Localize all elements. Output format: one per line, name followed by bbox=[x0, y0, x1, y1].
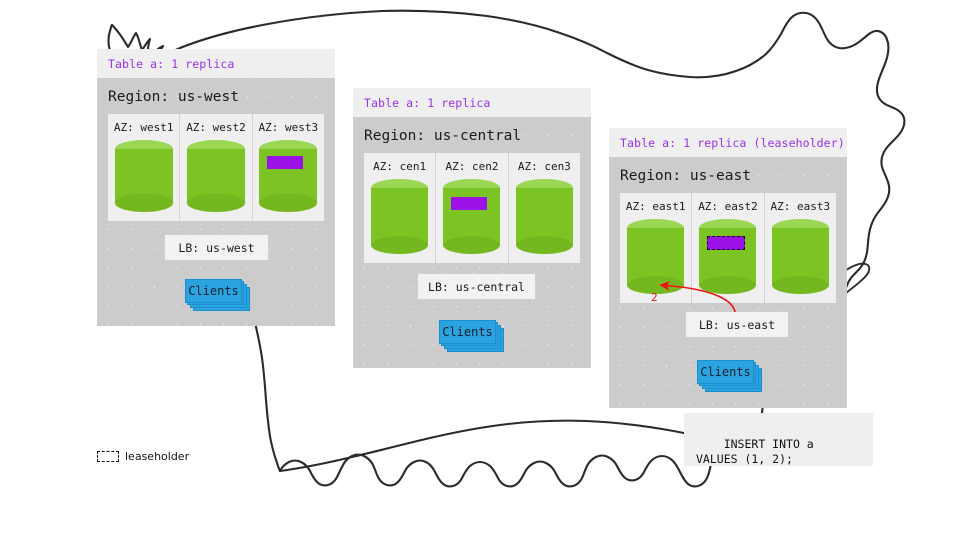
az-cell-cen3[interactable]: AZ: cen3 bbox=[509, 153, 580, 263]
node-cylinder[interactable] bbox=[699, 219, 756, 294]
table-replica-header: Table a: 1 replica bbox=[97, 49, 335, 78]
sql-text: INSERT INTO a VALUES (1, 2); bbox=[696, 437, 814, 466]
node-cylinder[interactable] bbox=[443, 179, 500, 254]
node-cylinder[interactable] bbox=[187, 140, 245, 212]
node-cylinder[interactable] bbox=[627, 219, 684, 294]
clients-stack[interactable]: Clients bbox=[697, 360, 761, 392]
az-cell-east3[interactable]: AZ: east3 bbox=[765, 193, 836, 303]
cylinder-bottom bbox=[516, 236, 573, 254]
az-label: AZ: cen3 bbox=[518, 160, 571, 173]
az-row: AZ: east1 AZ: east2 AZ: east3 bbox=[620, 193, 836, 303]
cylinder-bottom bbox=[187, 194, 245, 212]
node-cylinder[interactable] bbox=[115, 140, 173, 212]
az-label: AZ: east2 bbox=[698, 200, 758, 213]
clients-stack[interactable]: Clients bbox=[185, 279, 249, 311]
clients-stack[interactable]: Clients bbox=[439, 320, 503, 352]
az-label: AZ: west1 bbox=[114, 121, 174, 134]
node-cylinder[interactable] bbox=[516, 179, 573, 254]
az-label: AZ: cen2 bbox=[446, 160, 499, 173]
replica-marker bbox=[267, 156, 303, 169]
az-row: AZ: cen1 AZ: cen2 AZ: cen3 bbox=[364, 153, 580, 263]
az-cell-west2[interactable]: AZ: west2 bbox=[180, 114, 252, 221]
region-panel-us-east: Table a: 1 replica (leaseholder) Region:… bbox=[609, 128, 847, 408]
load-balancer-box[interactable]: LB: us-east bbox=[685, 311, 789, 338]
az-cell-cen1[interactable]: AZ: cen1 bbox=[364, 153, 436, 263]
table-replica-header: Table a: 1 replica (leaseholder) bbox=[609, 128, 847, 157]
clients-button[interactable]: Clients bbox=[439, 320, 496, 344]
region-panel-us-west: Table a: 1 replica Region: us-west AZ: w… bbox=[97, 49, 335, 326]
clients-button[interactable]: Clients bbox=[697, 360, 754, 384]
cylinder-bottom bbox=[772, 276, 829, 294]
lb-label: LB: us-central bbox=[428, 280, 525, 294]
load-balancer-box[interactable]: LB: us-central bbox=[417, 273, 536, 300]
clients-button[interactable]: Clients bbox=[185, 279, 242, 303]
legend-label: leaseholder bbox=[125, 450, 189, 463]
cylinder-bottom bbox=[371, 236, 428, 254]
lb-label: LB: us-west bbox=[178, 241, 254, 255]
az-cell-east2[interactable]: AZ: east2 bbox=[692, 193, 764, 303]
az-label: AZ: west3 bbox=[259, 121, 319, 134]
load-balancer-box[interactable]: LB: us-west bbox=[164, 234, 269, 261]
clients-label: Clients bbox=[188, 284, 239, 298]
region-title: Region: us-east bbox=[609, 157, 847, 193]
lb-label: LB: us-east bbox=[699, 318, 775, 332]
region-title: Region: us-central bbox=[353, 117, 591, 153]
cylinder-bottom bbox=[443, 236, 500, 254]
replica-marker bbox=[451, 197, 487, 210]
legend: leaseholder bbox=[97, 450, 189, 463]
replica-marker-leaseholder bbox=[707, 236, 745, 250]
az-label: AZ: east3 bbox=[771, 200, 831, 213]
node-cylinder[interactable] bbox=[259, 140, 317, 212]
arrow-step-label: 2 bbox=[651, 291, 658, 304]
az-label: AZ: east1 bbox=[626, 200, 686, 213]
cylinder-bottom bbox=[115, 194, 173, 212]
dashed-rectangle-icon bbox=[97, 451, 119, 462]
region-title: Region: us-west bbox=[97, 78, 335, 114]
region-panel-us-central: Table a: 1 replica Region: us-central AZ… bbox=[353, 88, 591, 368]
diagram-canvas: Table a: 1 replica Region: us-west AZ: w… bbox=[0, 0, 960, 540]
sql-statement-box: INSERT INTO a VALUES (1, 2); bbox=[684, 413, 873, 466]
node-cylinder[interactable] bbox=[772, 219, 829, 294]
clients-label: Clients bbox=[442, 325, 493, 339]
az-label: AZ: cen1 bbox=[373, 160, 426, 173]
az-cell-west3[interactable]: AZ: west3 bbox=[253, 114, 324, 221]
cylinder-bottom bbox=[699, 276, 756, 294]
az-row: AZ: west1 AZ: west2 AZ: west3 bbox=[108, 114, 324, 221]
az-cell-west1[interactable]: AZ: west1 bbox=[108, 114, 180, 221]
node-cylinder[interactable] bbox=[371, 179, 428, 254]
clients-label: Clients bbox=[700, 365, 751, 379]
az-label: AZ: west2 bbox=[186, 121, 246, 134]
az-cell-east1[interactable]: AZ: east1 bbox=[620, 193, 692, 303]
table-replica-header: Table a: 1 replica bbox=[353, 88, 591, 117]
az-cell-cen2[interactable]: AZ: cen2 bbox=[436, 153, 508, 263]
cylinder-bottom bbox=[259, 194, 317, 212]
